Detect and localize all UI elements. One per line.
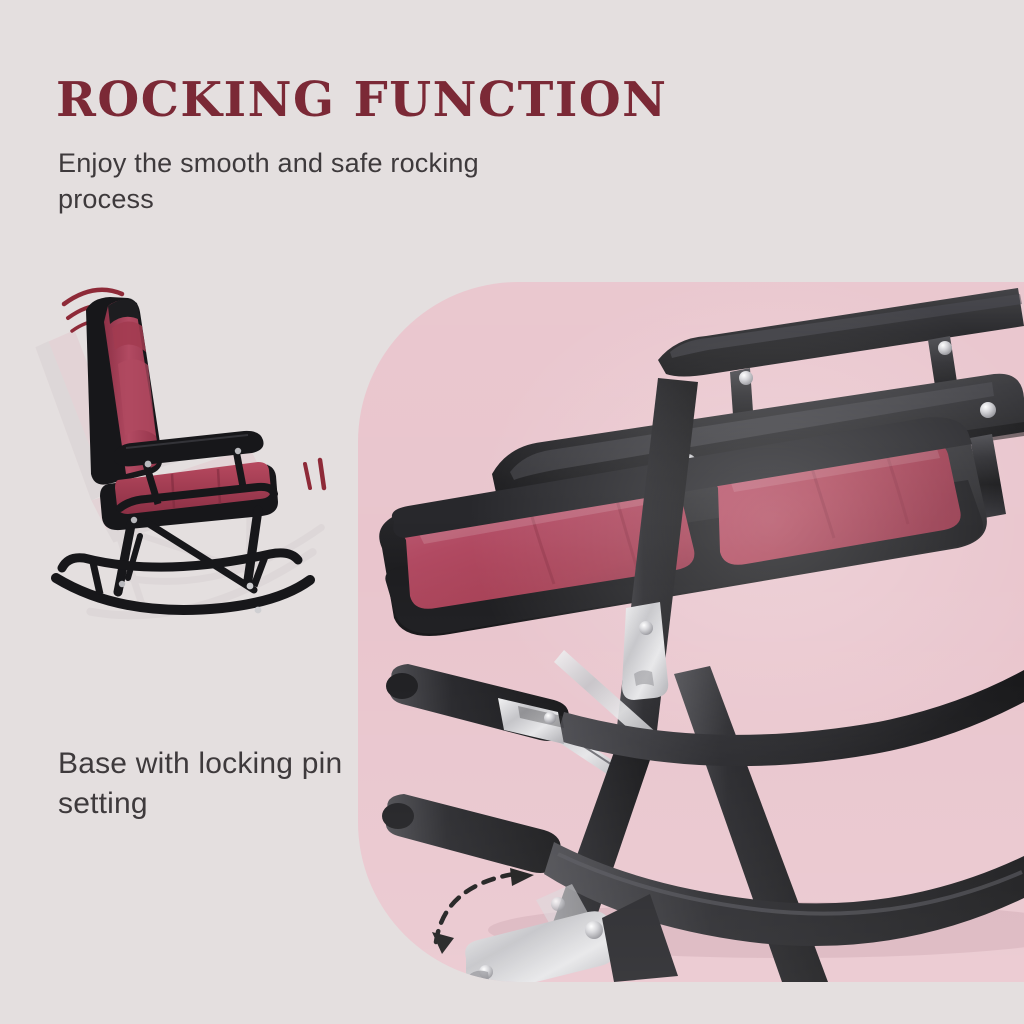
rivet-icon — [235, 448, 241, 454]
product-photo-panel — [358, 282, 1024, 982]
page-title: ROCKING FUNCTION — [56, 76, 668, 124]
rivet-icon — [145, 461, 152, 468]
motion-tick-right — [305, 460, 324, 488]
product-infographic-canvas: ROCKING FUNCTION Enjoy the smooth and sa… — [0, 0, 1024, 1024]
main-chair-illustration — [56, 297, 310, 613]
rivet-icon — [247, 583, 254, 590]
rivet-icon — [255, 607, 262, 614]
page-subtitle: Enjoy the smooth and safe rocking proces… — [58, 146, 518, 217]
panel-sheen — [358, 282, 1024, 982]
rocking-chair-illustration — [22, 268, 367, 658]
rivet-icon — [131, 517, 137, 523]
rivet-icon — [119, 581, 125, 587]
